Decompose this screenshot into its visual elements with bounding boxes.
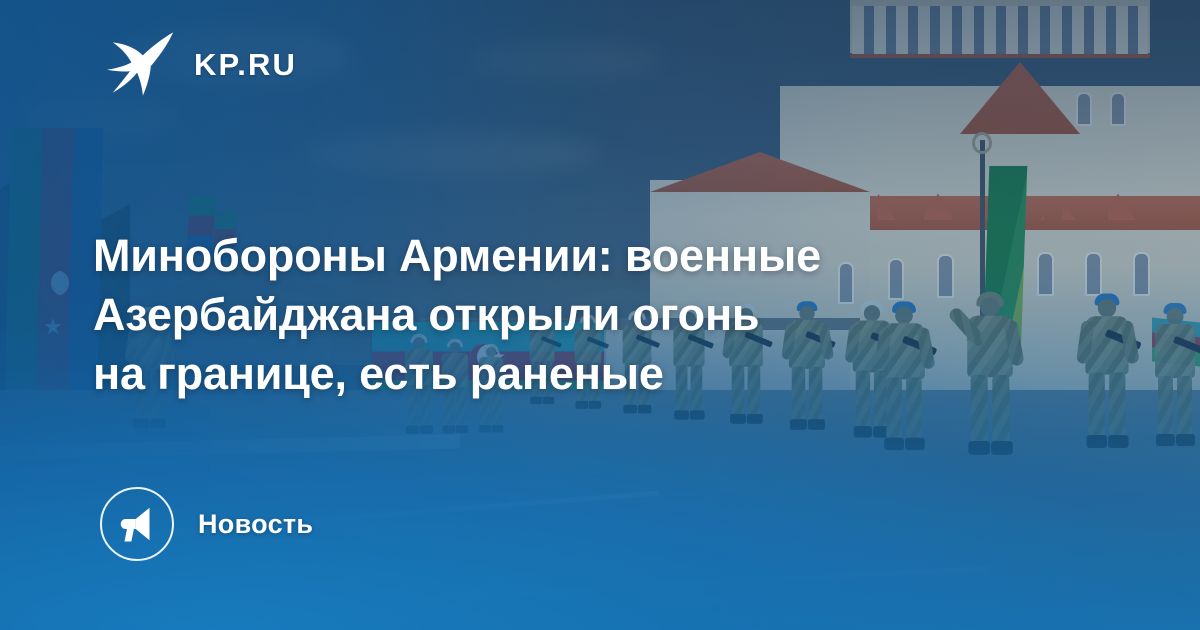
megaphone-icon bbox=[117, 504, 157, 544]
news-share-card: KP.RU Минобороны Армении: военные Азерба… bbox=[0, 0, 1200, 630]
status-badge[interactable]: Новость bbox=[100, 487, 313, 561]
badge-label: Новость bbox=[198, 509, 313, 540]
page-title: Минобороны Армении: военные Азербайджана… bbox=[93, 226, 1053, 403]
brand-logo[interactable]: KP.RU bbox=[104, 28, 297, 100]
badge-icon-circle bbox=[100, 487, 174, 561]
brand-name: KP.RU bbox=[194, 49, 297, 80]
swallow-bird-icon bbox=[104, 28, 176, 100]
